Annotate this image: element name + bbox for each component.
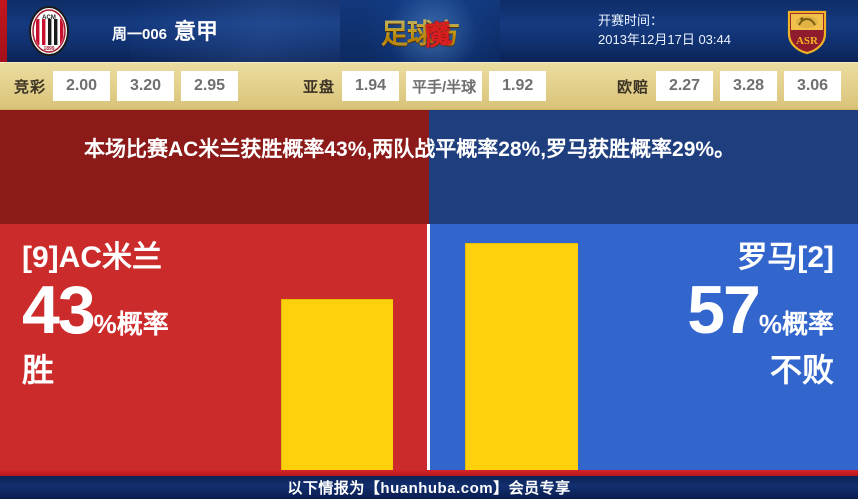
as-roma-crest-icon: ASR [782, 6, 832, 56]
match-round-label: 周一006 [112, 23, 167, 44]
match-label: 周一006 意甲 [112, 14, 218, 46]
odds-group-yapan: 亚盘 1.94 平手/半球 1.92 [303, 71, 546, 101]
odds-bar: 竞彩 2.00 3.20 2.95 亚盘 1.94 平手/半球 1.92 欧赔 … [0, 62, 858, 110]
home-probability-row: 43 %概率 [22, 278, 292, 342]
odds-cell-handicap[interactable]: 平手/半球 [406, 71, 482, 101]
footer-bar: 以下情报为【huanhuba.com】会员专享 [0, 470, 858, 499]
odds-group-jingcai: 竞彩 2.00 3.20 2.95 [14, 71, 238, 101]
home-probability-bar [281, 299, 393, 470]
home-probability-value: 43 [22, 278, 94, 342]
odds-cell-home[interactable]: 2.00 [53, 71, 110, 101]
away-team-name: 罗马[2] [564, 240, 834, 276]
probability-comparison-panels: [9]AC米兰 43 %概率 胜 罗马[2] 57 %概率 不败 [0, 224, 858, 470]
prediction-summary-text: 本场比赛AC米兰获胜概率43%,两队战平概率28%,罗马获胜概率29%。 [84, 132, 784, 168]
footer-content: 以下情报为【huanhuba.com】会员专享 [0, 476, 858, 499]
header-left-accent-strip [0, 0, 7, 62]
away-outcome-label: 不败 [564, 350, 834, 390]
away-probability-bar [465, 243, 578, 470]
home-probability-suffix: %概率 [94, 311, 169, 342]
svg-text:ASR: ASR [796, 35, 819, 47]
away-probability-suffix: %概率 [759, 311, 834, 342]
kickoff-time: 开赛时间： 2013年12月17日 03:44 [598, 11, 731, 49]
svg-text:1899: 1899 [43, 46, 54, 52]
odds-cell-home[interactable]: 2.27 [656, 71, 713, 101]
prediction-banner: 本场比赛AC米兰获胜概率43%,两队战平概率28%,罗马获胜概率29%。 [0, 110, 858, 224]
ac-milan-crest-icon: ACM 1899 [23, 5, 75, 57]
odds-group-oupei: 欧赔 2.27 3.28 3.06 [617, 71, 841, 101]
home-team-name: [9]AC米兰 [22, 240, 292, 276]
odds-cell-draw[interactable]: 3.28 [720, 71, 777, 101]
league-name-label: 意甲 [174, 14, 218, 46]
odds-cell-home[interactable]: 1.94 [342, 71, 399, 101]
home-outcome-label: 胜 [22, 350, 292, 390]
away-probability-value: 57 [687, 278, 759, 342]
match-prediction-infographic: ACM 1899 周一006 意甲 足球方 魔 开赛时间： 2013年12月17… [0, 0, 858, 499]
brand-logo: 足球方 魔 [340, 0, 500, 62]
header-bar: ACM 1899 周一006 意甲 足球方 魔 开赛时间： 2013年12月17… [0, 0, 858, 62]
odds-group-title: 亚盘 [303, 76, 335, 97]
odds-group-title: 欧赔 [617, 76, 649, 97]
odds-cell-away[interactable]: 2.95 [181, 71, 238, 101]
odds-cell-away[interactable]: 1.92 [489, 71, 546, 101]
odds-cell-draw[interactable]: 3.20 [117, 71, 174, 101]
away-team-stats: 罗马[2] 57 %概率 不败 [564, 240, 834, 390]
kickoff-value: 2013年12月17日 03:44 [598, 30, 731, 49]
odds-group-title: 竞彩 [14, 76, 46, 97]
svg-text:ACM: ACM [42, 15, 56, 21]
footer-notice-text: 以下情报为【huanhuba.com】会员专享 [287, 477, 570, 498]
away-probability-row: 57 %概率 [564, 278, 834, 342]
home-team-stats: [9]AC米兰 43 %概率 胜 [22, 240, 292, 390]
odds-cell-away[interactable]: 3.06 [784, 71, 841, 101]
panel-divider [427, 224, 430, 470]
kickoff-label: 开赛时间： [598, 11, 731, 30]
brand-logo-accent-char: 魔 [421, 11, 453, 53]
